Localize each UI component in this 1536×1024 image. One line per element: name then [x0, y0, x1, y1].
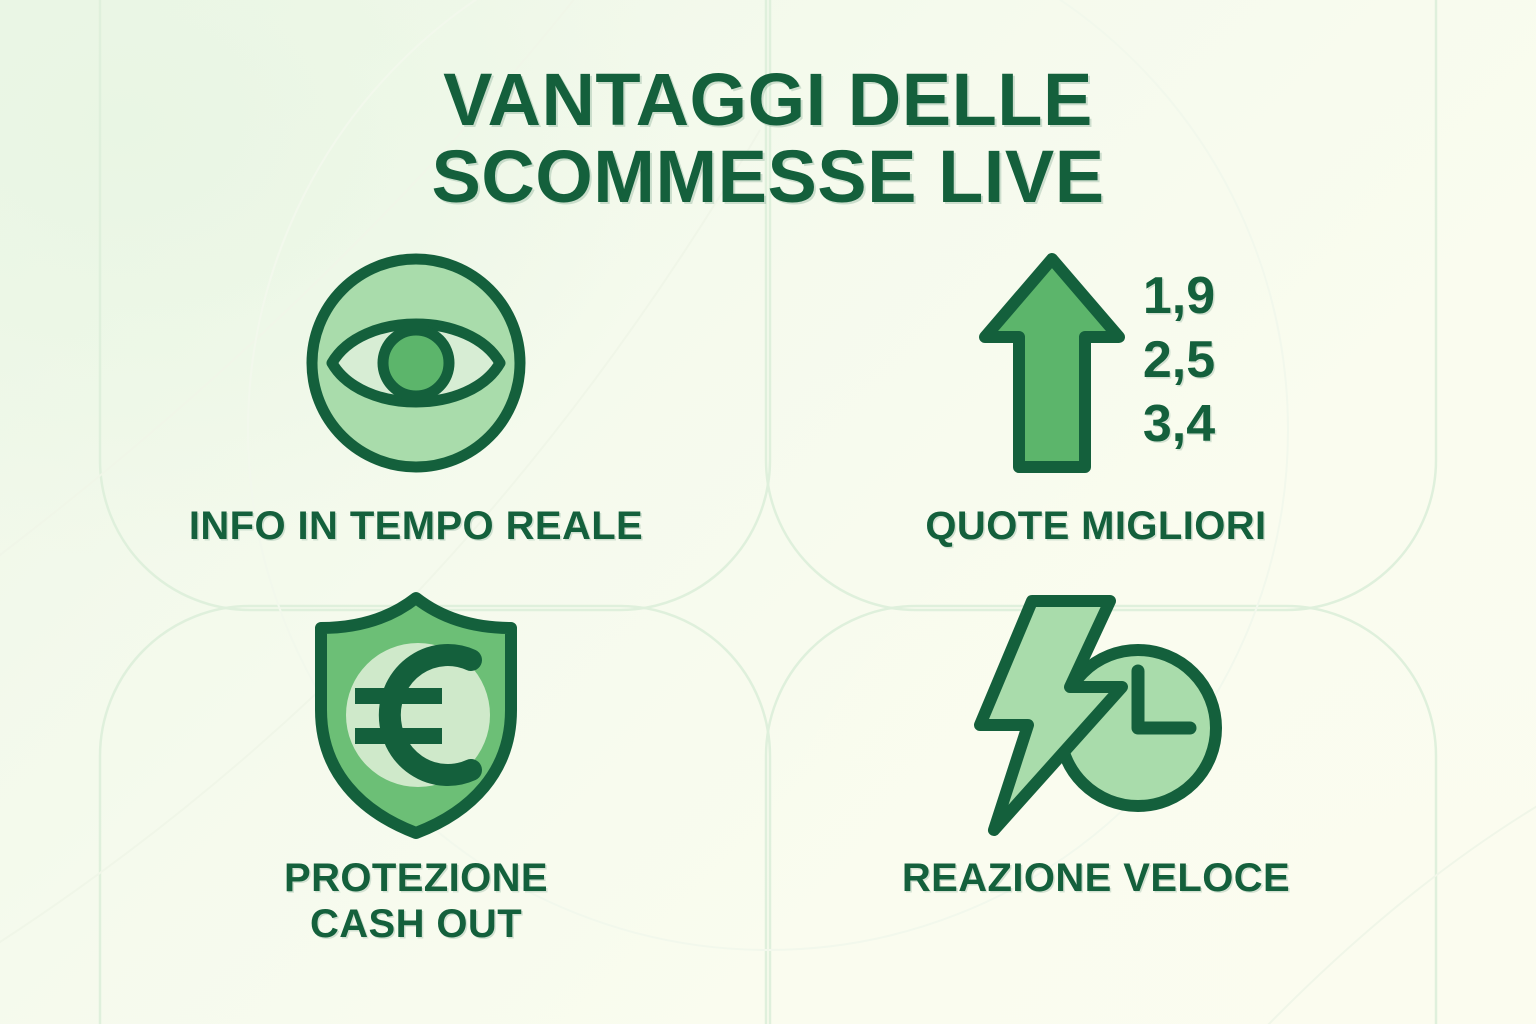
odds-list: 1,9 2,5 3,4 — [1143, 270, 1215, 456]
shield-euro-icon — [311, 590, 521, 840]
benefit-caption-line-1: REAZIONE VELOCE — [776, 856, 1416, 902]
eye-icon — [300, 247, 532, 479]
benefit-caption: PROTEZIONE CASH OUT — [96, 856, 736, 947]
benefit-artwork — [776, 590, 1416, 840]
benefit-card-protezione-cash-out: PROTEZIONE CASH OUT — [96, 590, 736, 947]
odds-value-1: 1,9 — [1143, 270, 1215, 322]
benefit-caption-line-1: QUOTE MIGLIORI — [776, 504, 1416, 550]
benefit-caption-line-1: PROTEZIONE — [96, 856, 736, 902]
benefit-artwork — [96, 590, 736, 840]
title-line-2: SCOMMESSE LIVE — [0, 139, 1536, 216]
benefit-card-reazione-veloce: REAZIONE VELOCE — [776, 590, 1416, 902]
benefit-caption-line-2: CASH OUT — [96, 902, 736, 948]
poster-root: VANTAGGI DELLE SCOMMESSE LIVE INFO IN TE… — [0, 0, 1536, 1024]
benefit-card-quote-migliori: 1,9 2,5 3,4 QUOTE MIGLIORI — [776, 238, 1416, 550]
benefits-grid: INFO IN TEMPO REALE 1,9 2,5 3,4 QUOTE MI… — [0, 238, 1536, 998]
benefit-artwork: 1,9 2,5 3,4 — [776, 238, 1416, 488]
benefit-caption-line-1: INFO IN TEMPO REALE — [96, 504, 736, 550]
benefit-card-info-tempo-reale: INFO IN TEMPO REALE — [96, 238, 736, 550]
bolt-clock-icon — [966, 593, 1226, 838]
benefit-artwork — [96, 238, 736, 488]
up-arrow-icon — [977, 251, 1127, 476]
page-title: VANTAGGI DELLE SCOMMESSE LIVE — [0, 62, 1536, 216]
title-line-1: VANTAGGI DELLE — [0, 62, 1536, 139]
odds-value-3: 3,4 — [1143, 398, 1215, 450]
benefit-caption: QUOTE MIGLIORI — [776, 504, 1416, 550]
odds-value-2: 2,5 — [1143, 334, 1215, 386]
benefit-caption: REAZIONE VELOCE — [776, 856, 1416, 902]
benefit-caption: INFO IN TEMPO REALE — [96, 504, 736, 550]
